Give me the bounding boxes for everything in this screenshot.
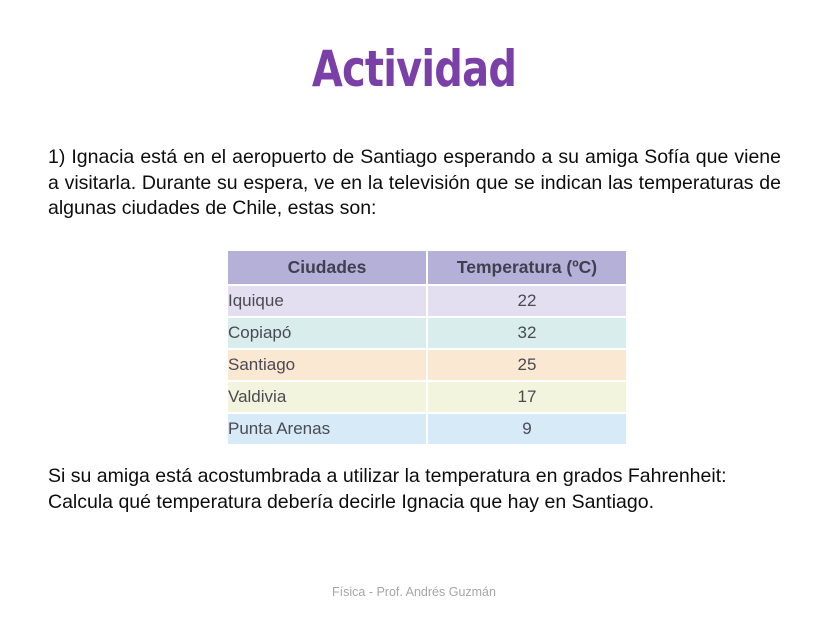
footer-credit: Física - Prof. Andrés Guzmán [0, 585, 828, 599]
table-row: Valdivia 17 [228, 382, 626, 412]
question-paragraph: Si su amiga está acostumbrada a utilizar… [48, 464, 793, 515]
intro-paragraph: 1) Ignacia está en el aeropuerto de Sant… [48, 145, 781, 222]
cell-temperature: 25 [428, 350, 626, 380]
table-row: Punta Arenas 9 [228, 414, 626, 444]
table-header-row: Ciudades Temperatura (ºC) [228, 251, 626, 284]
table-row: Copiapó 32 [228, 318, 626, 348]
table-body: Iquique 22 Copiapó 32 Santiago 25 Valdiv… [228, 286, 626, 444]
cell-city: Copiapó [228, 318, 426, 348]
page-title: Actividad [83, 42, 745, 96]
cell-city: Valdivia [228, 382, 426, 412]
cell-temperature: 9 [428, 414, 626, 444]
table-header: Ciudades Temperatura (ºC) [228, 251, 626, 284]
column-header-temperature: Temperatura (ºC) [428, 251, 626, 284]
table-row: Santiago 25 [228, 350, 626, 380]
temperature-table-container: Ciudades Temperatura (ºC) Iquique 22 Cop… [226, 249, 622, 446]
column-header-city: Ciudades [228, 251, 426, 284]
slide-canvas: Actividad 1) Ignacia está en el aeropuer… [0, 0, 828, 621]
cell-city: Iquique [228, 286, 426, 316]
cell-temperature: 22 [428, 286, 626, 316]
table-row: Iquique 22 [228, 286, 626, 316]
cell-city: Santiago [228, 350, 426, 380]
cell-temperature: 17 [428, 382, 626, 412]
cell-temperature: 32 [428, 318, 626, 348]
temperature-table: Ciudades Temperatura (ºC) Iquique 22 Cop… [226, 249, 628, 446]
cell-city: Punta Arenas [228, 414, 426, 444]
